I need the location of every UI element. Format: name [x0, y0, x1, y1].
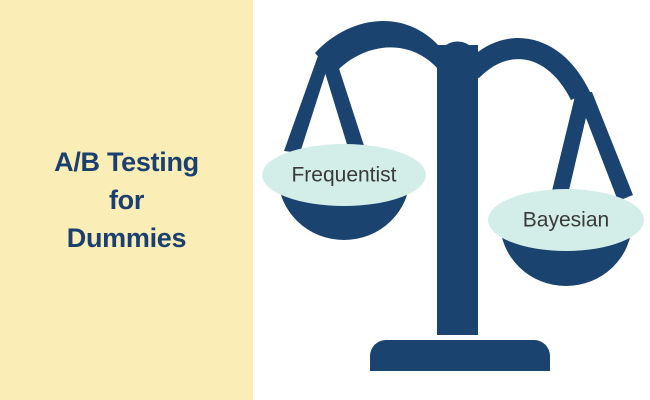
title-line-2: for: [0, 181, 253, 219]
page-title: A/B Testing for Dummies: [0, 143, 253, 258]
title-line-3: Dummies: [0, 219, 253, 257]
balance-scale-icon: Frequentist Bayesian: [253, 0, 650, 400]
left-pan-label: Frequentist: [291, 164, 396, 187]
right-chain-second-strand: [576, 92, 633, 201]
scale-column: [437, 45, 478, 335]
title-line-1: A/B Testing: [0, 143, 253, 181]
illustration-panel: Frequentist Bayesian: [253, 0, 650, 400]
title-panel: A/B Testing for Dummies: [0, 0, 253, 400]
poster-canvas: A/B Testing for Dummies: [0, 0, 650, 400]
right-pan-label: Bayesian: [523, 209, 609, 232]
scale-base: [370, 340, 550, 371]
